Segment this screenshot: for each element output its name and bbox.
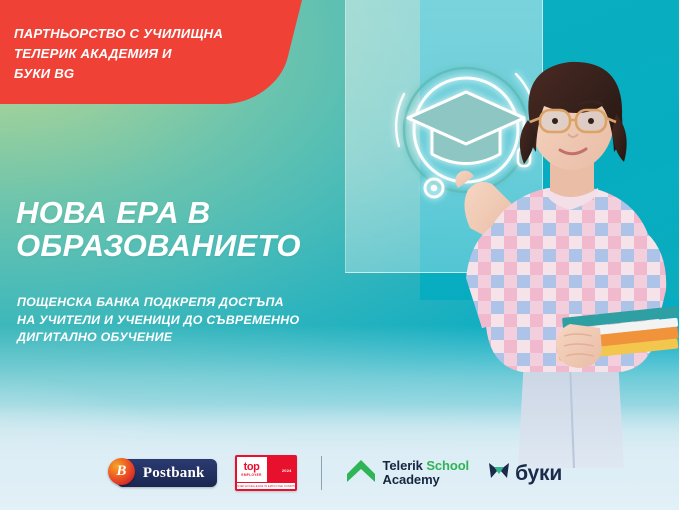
education-campaign-banner: ПАРТНЬОРСТВО С УЧИЛИЩНА ТЕЛЕРИК АКАДЕМИЯ… — [0, 0, 679, 510]
logo-strip: B Postbank top EMPLOYER 2024 CERTIFIED E… — [0, 450, 679, 496]
buki-wordmark: буки — [515, 463, 562, 484]
buki-logo[interactable]: буки — [487, 460, 562, 487]
top-employer-panel: top EMPLOYER — [237, 457, 267, 482]
top-employer-footer: CERTIFIED EXCELLENCE IN EMPLOYEE CONDITI… — [237, 483, 295, 489]
partnership-ribbon: ПАРТНЬОРСТВО С УЧИЛИЩНА ТЕЛЕРИК АКАДЕМИЯ… — [14, 24, 314, 84]
supporting-copy: ПОЩЕНСКА БАНКА ПОДКРЕПЯ ДОСТЪПА НА УЧИТЕ… — [17, 294, 367, 347]
main-headline: НОВА ЕРА В ОБРАЗОВАНИЕТО — [16, 196, 356, 263]
postbank-mark-letter: B — [116, 464, 126, 479]
postbank-logo[interactable]: B Postbank — [117, 459, 217, 487]
ribbon-line-2: ТЕЛЕРИК АКАДЕМИЯ И — [14, 44, 314, 64]
telerik-word-academy: Academy — [383, 473, 470, 487]
ribbon-line-1: ПАРТНЬОРСТВО С УЧИЛИЩНА — [14, 24, 314, 44]
headline-line-1: НОВА ЕРА В — [16, 196, 356, 229]
subcopy-line-1: ПОЩЕНСКА БАНКА ПОДКРЕПЯ ДОСТЪПА — [17, 294, 367, 312]
ribbon-line-3: БУКИ BG — [14, 64, 314, 84]
subcopy-line-2: НА УЧИТЕЛИ И УЧЕНИЦИ ДО СЪВРЕМЕННО — [17, 312, 367, 330]
headline-line-2: ОБРАЗОВАНИЕТО — [16, 229, 356, 262]
telerik-wordmark: Telerik School Academy — [383, 459, 470, 486]
top-employer-footer-text: CERTIFIED EXCELLENCE IN EMPLOYEE CONDITI… — [235, 485, 297, 488]
buki-butterfly-icon — [487, 460, 511, 487]
telerik-school-academy-logo[interactable]: Telerik School Academy — [346, 458, 470, 489]
woman-with-books-photo — [452, 28, 679, 468]
logo-divider — [321, 456, 322, 490]
top-employer-employer-text: EMPLOYER — [241, 474, 261, 477]
top-employer-year: 2024 — [282, 468, 292, 473]
telerik-chevron-icon — [346, 458, 376, 489]
top-employer-top-text: top — [244, 462, 260, 473]
top-employer-badge[interactable]: top EMPLOYER 2024 CERTIFIED EXCELLENCE I… — [235, 455, 297, 491]
subcopy-line-3: ДИГИТАЛНО ОБУЧЕНИЕ — [17, 329, 367, 347]
postbank-wordmark: Postbank — [143, 465, 205, 482]
postbank-b-coin-icon: B — [108, 458, 135, 485]
